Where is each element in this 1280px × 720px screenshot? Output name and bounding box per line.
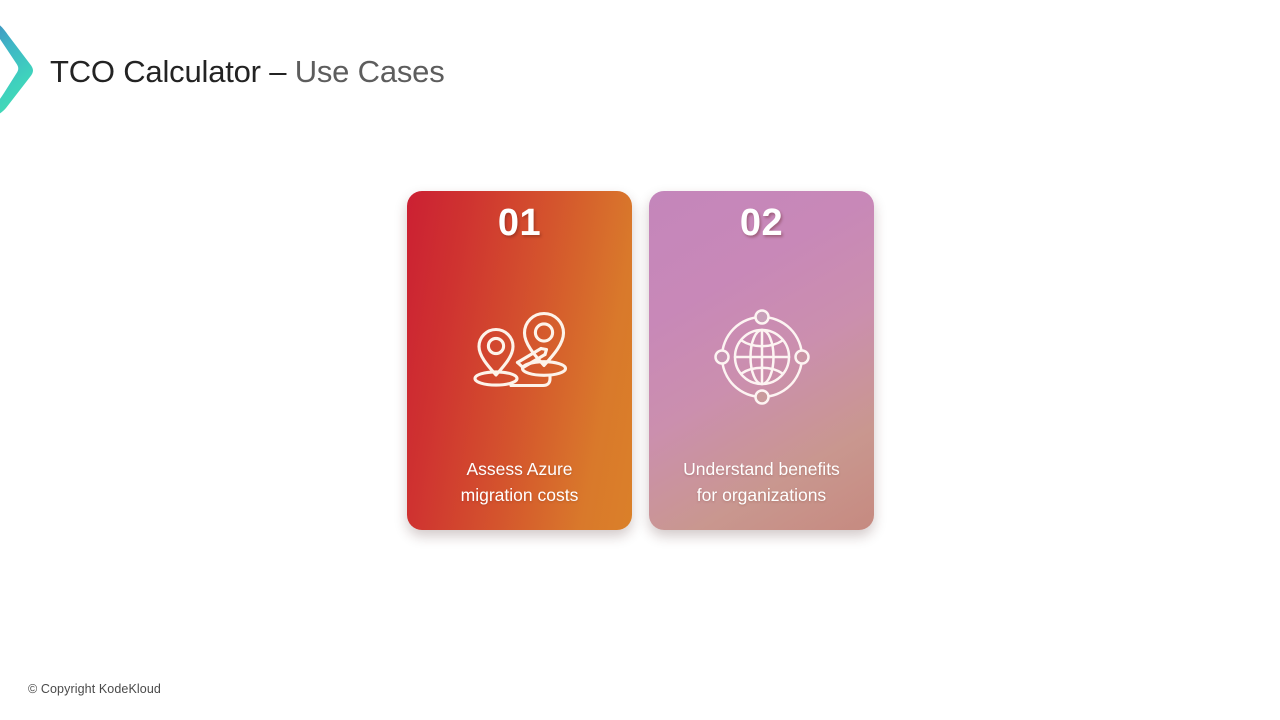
card-caption: Assess Azure migration costs <box>407 457 632 509</box>
card-number-label: 02 <box>740 203 783 245</box>
slide-header: TCO Calculator – Use Cases <box>0 0 1280 130</box>
page-title-primary: TCO Calculator – <box>50 54 295 89</box>
use-case-card-01[interactable]: 01 <box>407 191 632 530</box>
card-caption-line-2: for organizations <box>657 483 866 509</box>
card-caption-line-2: migration costs <box>415 483 624 509</box>
card-number-label: 01 <box>498 203 541 245</box>
page-title: TCO Calculator – Use Cases <box>50 53 445 90</box>
card-caption: Understand benefits for organizations <box>649 457 874 509</box>
page-title-secondary: Use Cases <box>295 54 445 89</box>
slide-canvas: TCO Calculator – Use Cases 01 <box>0 0 1280 720</box>
copyright-footer: © Copyright KodeKloud <box>28 682 161 696</box>
location-pins-migration-icon <box>407 309 632 401</box>
use-case-card-02[interactable]: 02 <box>649 191 874 530</box>
use-case-card-group: 01 <box>407 191 874 530</box>
card-caption-line-1: Understand benefits <box>657 457 866 483</box>
card-caption-line-1: Assess Azure <box>415 457 624 483</box>
globe-network-icon <box>649 309 874 405</box>
kodekloud-chevron-icon <box>0 18 40 118</box>
